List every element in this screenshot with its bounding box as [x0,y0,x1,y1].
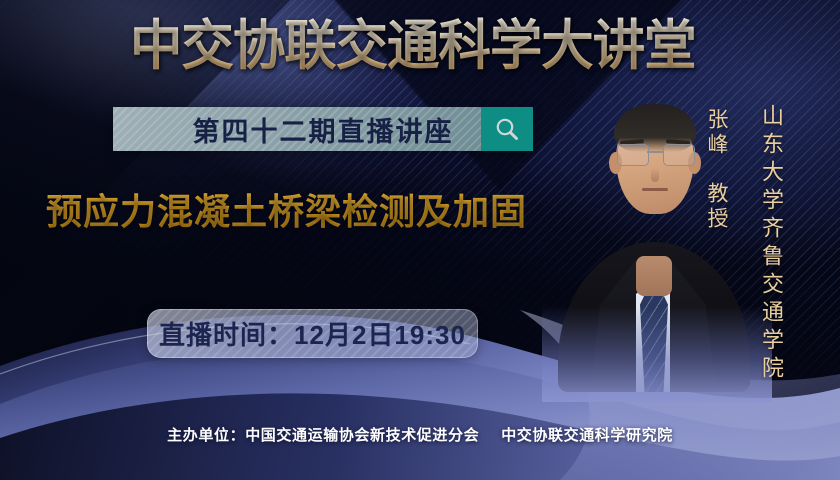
livestream-time-badge: 直播时间：12月2日19:30 [147,309,478,358]
portrait-mouth [642,188,668,191]
portrait-lens-left [617,144,649,166]
footer-organizer-2: 中交协联交通科学研究院 [501,427,673,444]
livestream-promo-poster: 中交协联交通科学大讲堂 中交协联交通科学大讲堂 第四十二期直播讲座 预应力混凝土… [0,0,840,480]
livestream-time-label: 直播时间：12月2日19:30 [159,315,466,352]
portrait-nose [651,168,659,182]
portrait-glasses [614,144,696,166]
episode-label: 第四十二期直播讲座 [141,110,454,149]
search-icon-box[interactable] [481,107,533,151]
episode-subtitle-bar-body: 第四十二期直播讲座 [113,107,481,151]
episode-subtitle-bar: 第四十二期直播讲座 [113,107,533,151]
portrait-lens-right [663,144,695,166]
speaker-role: 教授 [706,182,727,232]
speaker-name: 张峰 [706,108,727,158]
footer-organizers: 主办单位：中国交通运输协会新技术促进分会中交协联交通科学研究院 [0,424,840,445]
search-icon [494,116,520,142]
main-title: 中交协联交通科学大讲堂 [130,16,696,76]
portrait-glasses-bridge [647,151,663,153]
speaker-affiliation: 山东大学齐鲁交通学院 [760,104,782,384]
portrait-neck [636,256,672,296]
lecture-topic: 预应力混凝土桥梁检测及加固 [46,190,527,234]
footer-prefix: 主办单位： [167,427,245,444]
portrait-necktie [640,288,668,392]
footer-organizer-1: 中国交通运输协会新技术促进分会 [245,427,479,444]
